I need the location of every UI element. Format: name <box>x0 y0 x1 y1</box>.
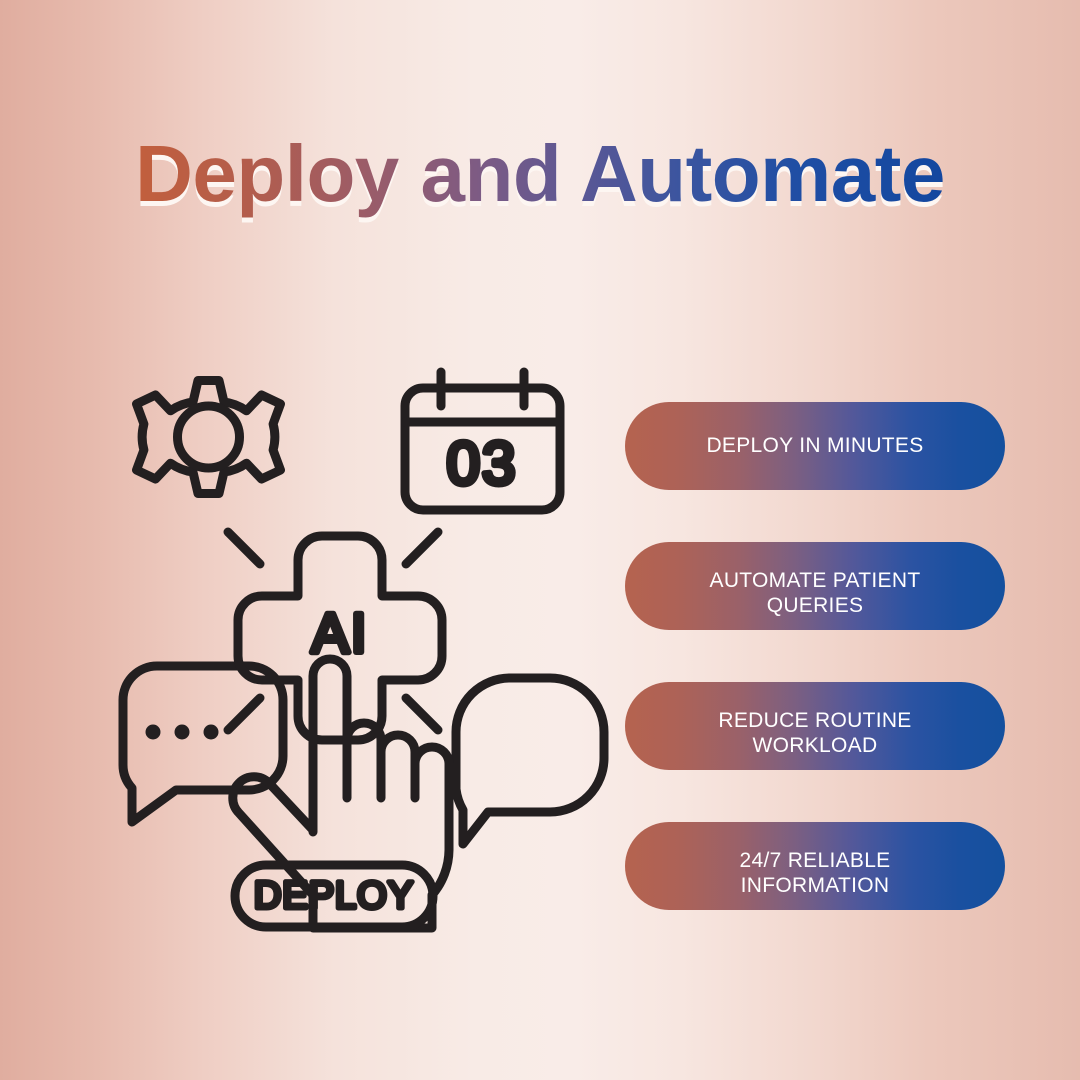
benefit-pill-list: DEPLOY IN MINUTES AUTOMATE PATIENT QUERI… <box>625 402 1005 910</box>
ai-node-label: AI <box>312 601 369 664</box>
page-title: Deploy and Automate <box>135 128 945 220</box>
ai-deployment-illustration: 03 AI <box>60 360 620 950</box>
calendar-day-label: 03 <box>447 430 518 497</box>
calendar-icon: 03 <box>405 372 560 510</box>
page-title-shadow: Deploy and Automate <box>0 133 1080 225</box>
ray-bottom-right <box>406 698 438 730</box>
gear-icon <box>137 360 281 494</box>
ray-top-right <box>406 532 438 564</box>
page-title-container: Deploy and Automate Deploy and Automate <box>0 128 1080 220</box>
benefit-pill[interactable]: 24/7 RELIABLE INFORMATION <box>625 822 1005 910</box>
benefit-pill-label: DEPLOY IN MINUTES <box>706 434 923 459</box>
ray-bottom-left <box>228 698 260 730</box>
deploy-button[interactable]: DEPLOY <box>235 865 433 927</box>
benefit-pill[interactable]: DEPLOY IN MINUTES <box>625 402 1005 490</box>
benefit-pill-label: AUTOMATE PATIENT QUERIES <box>710 569 921 619</box>
deploy-button-label: DEPLOY <box>254 875 414 917</box>
chat-bubble-dots-icon <box>123 666 283 822</box>
benefit-pill[interactable]: AUTOMATE PATIENT QUERIES <box>625 542 1005 630</box>
benefit-pill-label: REDUCE ROUTINE WORKLOAD <box>718 709 911 759</box>
poster-canvas: Deploy and Automate Deploy and Automate … <box>0 0 1080 1080</box>
benefit-pill[interactable]: REDUCE ROUTINE WORKLOAD <box>625 682 1005 770</box>
ray-top-left <box>228 532 260 564</box>
benefit-pill-label: 24/7 RELIABLE INFORMATION <box>740 849 891 899</box>
chat-bubble-icon <box>456 678 604 844</box>
